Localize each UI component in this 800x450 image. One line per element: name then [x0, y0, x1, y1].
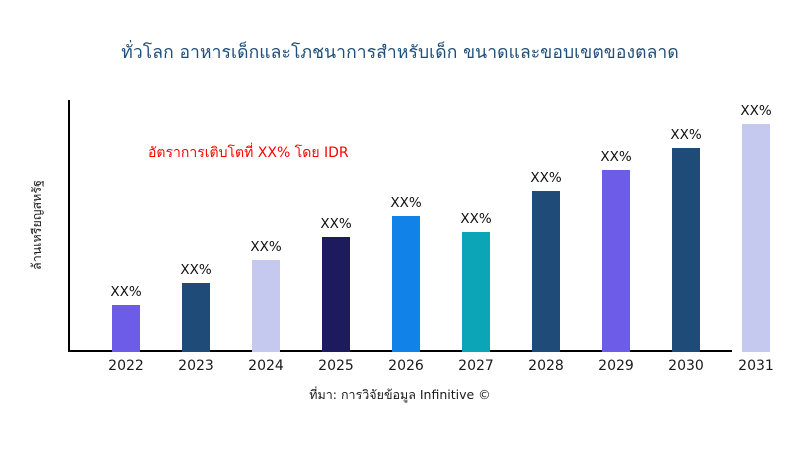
bar-2027: [462, 232, 490, 352]
bar-2026: [392, 216, 420, 352]
bar-group: XX%: [602, 170, 630, 352]
x-tick-label-2024: 2024: [236, 358, 296, 374]
bar-2028: [532, 191, 560, 352]
bar-group: XX%: [742, 124, 770, 352]
bar-2023: [182, 283, 210, 352]
x-tick-label-2026: 2026: [376, 358, 436, 374]
bar-group: XX%: [392, 216, 420, 352]
growth-rate-annotation: อัตราการเติบโตที่ XX% โดย IDR: [148, 142, 349, 164]
bar-group: XX%: [182, 283, 210, 352]
plot-area: XX%XX%XX%XX%XX%XX%XX%XX%XX%XX% 202220232…: [68, 100, 768, 350]
bar-group: XX%: [462, 232, 490, 352]
y-axis-label-container: ล้านเหรียญสหรัฐ: [26, 100, 48, 350]
bar-chart-figure: ทั่วโลก อาหารเด็กและโภชนาการสำหรับเด็ก ข…: [0, 0, 800, 450]
bar-2031: [742, 124, 770, 352]
bar-2022: [112, 305, 140, 352]
source-note: ที่มา: การวิจัยข้อมูล Infinitive ©: [0, 385, 800, 405]
bar-value-label-2031: XX%: [740, 103, 771, 119]
bar-group: XX%: [322, 237, 350, 352]
x-tick-label-2031: 2031: [726, 358, 786, 374]
bar-value-label-2028: XX%: [530, 170, 561, 186]
bar-2024: [252, 260, 280, 352]
bar-value-label-2022: XX%: [110, 284, 141, 300]
bar-group: XX%: [252, 260, 280, 352]
x-tick-label-2030: 2030: [656, 358, 716, 374]
bar-value-label-2024: XX%: [250, 239, 281, 255]
bar-value-label-2023: XX%: [180, 262, 211, 278]
bar-2025: [322, 237, 350, 352]
x-tick-label-2022: 2022: [96, 358, 156, 374]
bar-value-label-2026: XX%: [390, 195, 421, 211]
x-tick-label-2023: 2023: [166, 358, 226, 374]
x-tick-label-2029: 2029: [586, 358, 646, 374]
x-tick-label-2025: 2025: [306, 358, 366, 374]
bar-value-label-2025: XX%: [320, 216, 351, 232]
chart-title: ทั่วโลก อาหารเด็กและโภชนาการสำหรับเด็ก ข…: [0, 40, 800, 66]
bar-value-label-2029: XX%: [600, 149, 631, 165]
bar-2030: [672, 148, 700, 352]
y-axis-label: ล้านเหรียญสหรัฐ: [27, 180, 47, 270]
bar-value-label-2030: XX%: [670, 127, 701, 143]
bar-group: XX%: [112, 305, 140, 352]
bar-2029: [602, 170, 630, 352]
y-axis-line: [68, 100, 70, 350]
x-tick-label-2027: 2027: [446, 358, 506, 374]
bar-group: XX%: [672, 148, 700, 352]
bar-value-label-2027: XX%: [460, 211, 491, 227]
bar-group: XX%: [532, 191, 560, 352]
x-tick-label-2028: 2028: [516, 358, 576, 374]
